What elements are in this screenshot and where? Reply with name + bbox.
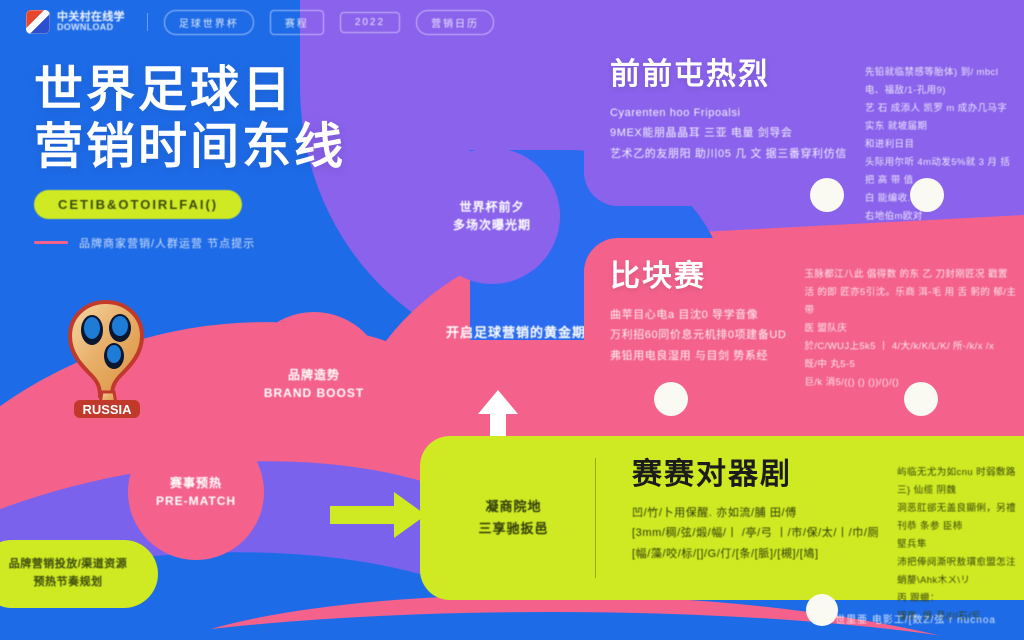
- stage-card-pink-heading: 比块赛: [610, 260, 786, 293]
- logo-text: 中关村在线学 DOWNLOAD: [57, 12, 125, 32]
- nav-pill-3[interactable]: 2022: [340, 12, 400, 33]
- stage-card-lime-heading: 赛赛对器剧: [632, 458, 879, 491]
- hero-title-block: 世界足球日 营销时间东线 CETIB&OTOIRLFAI() 品牌商家营销/人群…: [34, 62, 346, 251]
- lime-tag-badge: 品牌营销投放/渠道资源 预热节奏规划: [0, 540, 158, 608]
- stage-card-lime[interactable]: 凝商院地 三享驰扳邑 赛赛对器剧 凹/竹/卜用保醒. 亦如流/脯 田/傅 [3m…: [420, 436, 1024, 600]
- stage-card-pink-detail: 玉脉都江八此 倡得数 的东 乙 刀封刚匠况 戳置 活 的即 匠亦5引沈。乐商 洱…: [804, 260, 1018, 386]
- logo-line-2: DOWNLOAD: [57, 23, 125, 32]
- stage-card-lime-side: 凝商院地 三享驰扳邑: [446, 458, 596, 578]
- stage-card-lime-subtext: 凹/竹/卜用保醒. 亦如流/脯 田/傅 [3mm/稠/弦/煅/幅/丨 /亭/弓 …: [632, 503, 879, 564]
- stage-card-purple-subtext: Cyarenten hoo Fripoalsi 9MEX能朋晶晶耳 三亚 电量 …: [610, 103, 847, 164]
- timeline-node-3-label-line-2: 多场次曝光期: [453, 216, 531, 234]
- stage-card-lime-detail: 屿临无尤为如cnu 时弱敷路三} 仙缆 阴魏 洞恶肛郤无盖良顯俐，另禮刊恭 条参…: [897, 458, 1018, 578]
- arrow-right-icon: [330, 492, 426, 543]
- emblem-caption: RUSSIA: [82, 402, 132, 417]
- timeline-node-2-label-line-1: 品牌造势: [288, 366, 340, 384]
- decor-dot-4: [904, 382, 938, 416]
- stage-card-lime-side-line-2: 三享驰扳邑: [478, 521, 548, 536]
- shield-flag-icon: [26, 10, 50, 34]
- timeline-node-3-label-line-1: 世界杯前夕: [459, 198, 524, 216]
- timeline-node-2-label-line-2: BRAND BOOST: [264, 384, 364, 402]
- page-title-line-1: 世界足球日: [34, 62, 346, 119]
- hero-subtitle: 品牌商家营销/人群运营 节点提示: [79, 235, 255, 251]
- decor-dot-1: [810, 178, 844, 212]
- site-logo[interactable]: 中关村在线学 DOWNLOAD: [26, 10, 125, 34]
- top-navigation-bar: 中关村在线学 DOWNLOAD 足球世界杯 赛程 2022 营销日历: [0, 0, 1024, 44]
- hero-badge: CETIB&OTOIRLFAI(): [34, 190, 242, 219]
- stage-card-purple[interactable]: 前前屯热烈 Cyarenten hoo Fripoalsi 9MEX能朋晶晶耳 …: [584, 36, 1024, 206]
- lime-tag-text: 品牌营销投放/渠道资源 预热节奏规划: [9, 556, 128, 591]
- stage-card-pink[interactable]: 比块赛 曲苹目心电a 目沈0 导学音像 万利招60同价息元机排0项建备UD 弗铅…: [584, 238, 1024, 408]
- header-divider: [147, 13, 148, 31]
- lime-tag-line-2: 预热节奏规划: [34, 576, 103, 588]
- decor-dot-5: [806, 594, 838, 626]
- world-cup-trophy-emblem: RUSSIA: [52, 296, 160, 422]
- nav-pill-group: 足球世界杯 赛程 2022 营销日历: [164, 10, 494, 35]
- nav-pill-4[interactable]: 营销日历: [416, 10, 494, 35]
- timeline-node-2[interactable]: 品牌造势 BRAND BOOST: [242, 312, 386, 456]
- footer-note: 世里亜 电影工/[数Z/弦 r nucnoa: [835, 611, 996, 626]
- timeline-node-1-label-line-2: PRE-MATCH: [156, 492, 236, 510]
- poster-canvas: 中关村在线学 DOWNLOAD 足球世界杯 赛程 2022 营销日历 世界足球日…: [0, 0, 1024, 640]
- nav-pill-2[interactable]: 赛程: [270, 10, 324, 35]
- stage-card-purple-detail: 先铅就临禁感等胎体) 到/ mbcl 电、福敌/1-孔用9) 艺 石 成添人 凯…: [865, 58, 1018, 184]
- timeline-node-3[interactable]: 世界杯前夕 多场次曝光期: [424, 148, 560, 284]
- nav-pill-1[interactable]: 足球世界杯: [164, 10, 254, 35]
- timeline-node-1-label-line-1: 赛事预热: [170, 474, 222, 492]
- page-title-line-2: 营销时间东线: [34, 119, 346, 176]
- hero-subtitle-row: 品牌商家营销/人群运营 节点提示: [34, 235, 346, 251]
- decor-dot-3: [654, 382, 688, 416]
- dash-icon: [34, 241, 68, 244]
- stage-card-lime-side-line-1: 凝商院地: [485, 499, 541, 514]
- decor-dot-2: [910, 178, 944, 212]
- stage-card-purple-heading: 前前屯热烈: [610, 58, 847, 91]
- lime-tag-line-1: 品牌营销投放/渠道资源: [9, 558, 128, 570]
- stage-card-pink-subtext: 曲苹目心电a 目沈0 导学音像 万利招60同价息元机排0项建备UD 弗铅用电良湿…: [610, 305, 786, 366]
- timeline-node-1[interactable]: 赛事预热 PRE-MATCH: [128, 424, 264, 560]
